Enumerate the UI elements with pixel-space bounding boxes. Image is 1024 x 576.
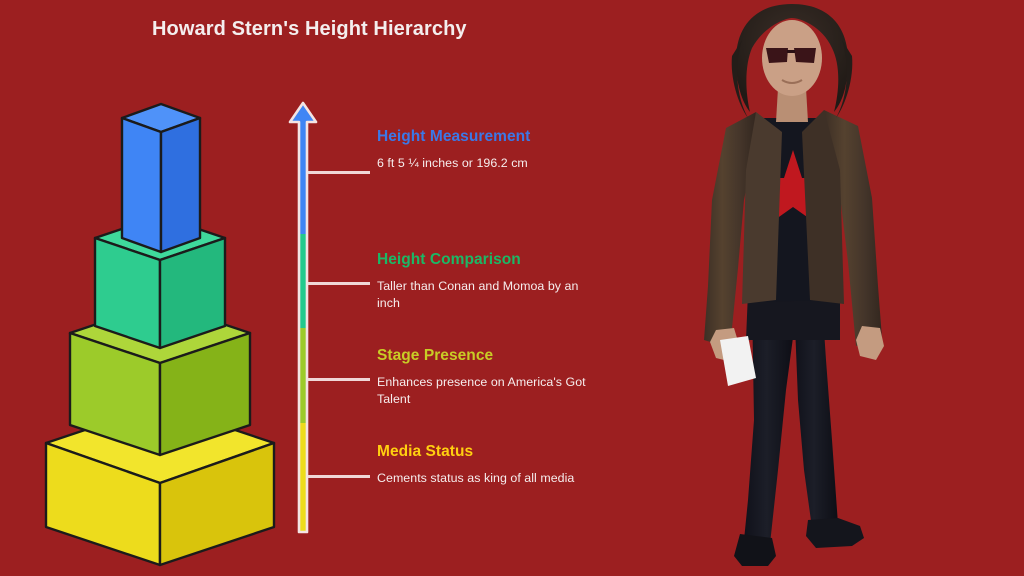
legend-heading-media-status: Media Status (377, 441, 592, 463)
legend-body-height-measurement: 6 ft 5 ¼ inches or 196.2 cm (377, 155, 592, 172)
legend-heading-height-comparison: Height Comparison (377, 249, 592, 271)
legend-body-stage-presence: Enhances presence on America's Got Talen… (377, 374, 592, 408)
legend-body-height-comparison: Taller than Conan and Momoa by an inch (377, 278, 592, 312)
connector-line-1 (308, 171, 370, 174)
legend-entry-height-measurement: Height Measurement 6 ft 5 ¼ inches or 19… (377, 126, 592, 172)
infographic-canvas: Howard Stern's Height Hierarchy (0, 0, 1024, 576)
block-blue (122, 104, 200, 252)
connector-line-4 (308, 475, 370, 478)
connector-line-3 (308, 378, 370, 381)
legend-entry-stage-presence: Stage Presence Enhances presence on Amer… (377, 345, 592, 408)
bar-color-segments (286, 100, 320, 540)
legend-heading-stage-presence: Stage Presence (377, 345, 592, 367)
gradient-scale-bar (286, 100, 320, 540)
isometric-block-stack (0, 0, 320, 576)
legend-entry-media-status: Media Status Cements status as king of a… (377, 441, 592, 487)
jeans (744, 292, 840, 544)
subject-photo (690, 0, 940, 576)
legend-text-column: Height Measurement 6 ft 5 ¼ inches or 19… (377, 0, 607, 576)
legend-body-media-status: Cements status as king of all media (377, 470, 592, 487)
connector-line-2 (308, 282, 370, 285)
paper-in-hand (720, 336, 756, 386)
legend-entry-height-comparison: Height Comparison Taller than Conan and … (377, 249, 592, 312)
legend-heading-height-measurement: Height Measurement (377, 126, 592, 148)
